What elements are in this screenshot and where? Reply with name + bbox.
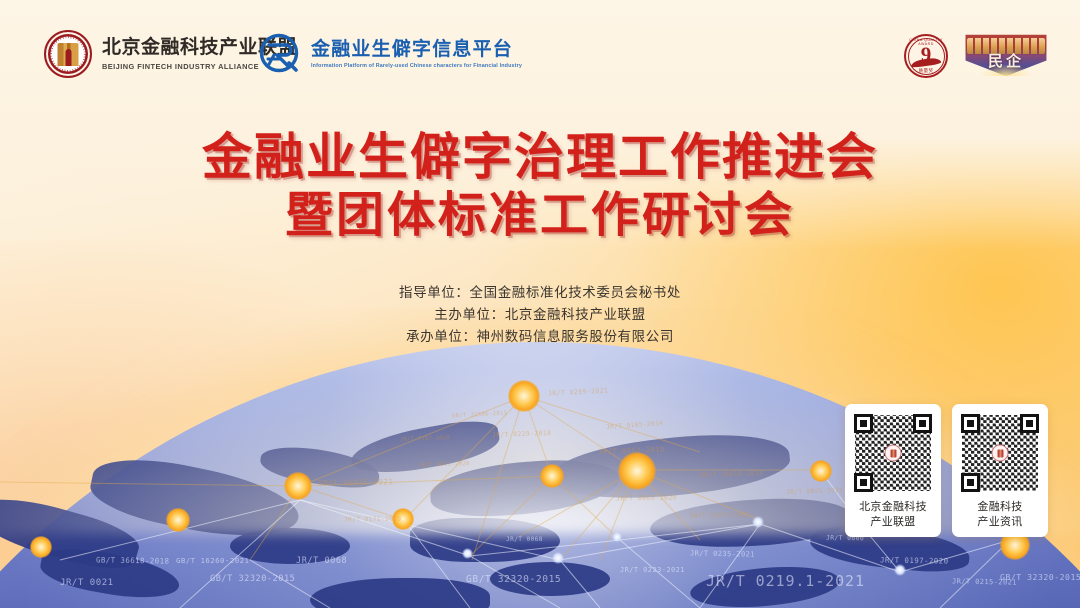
standard-code-label: JR/T 0068-2020: [616, 493, 677, 502]
qr-card-beijing-fintech-alliance[interactable]: 北京金融科技 产业联盟: [845, 404, 941, 537]
standard-code-label: GB/T 36618-2018: [700, 469, 764, 479]
qr-caption: 北京金融科技 产业联盟: [859, 499, 927, 529]
qr-code-image[interactable]: [960, 413, 1040, 493]
badge-china-quality-award: CHINA QUALITY AWARD 9 质量奖: [904, 34, 948, 78]
organizer-row: 承办单位：神州数码信息服务股份有限公司: [0, 326, 1080, 348]
standard-code-label: JR/T 0219.1-2021: [706, 572, 865, 590]
standard-code-label: JR/T 0223-2021: [620, 566, 685, 574]
standard-code-label: JR/T 0071-2020: [418, 461, 470, 469]
logo-cn-text: 金融业生僻字信息平台: [311, 39, 522, 60]
qr-caption-line-2: 产业联盟: [859, 514, 927, 529]
qr-center-logo-icon: [992, 445, 1009, 462]
standard-code-label: GB/T 32320-2015: [1000, 572, 1080, 582]
standard-code-label: JR/T 0021: [60, 578, 114, 588]
standard-code-label: JR/T 0025-2021: [786, 487, 844, 496]
standard-code-label: JR/T 0235-2021: [690, 549, 755, 558]
logo-en-text: Information Platform of Rarely-used Chin…: [311, 63, 522, 69]
organizer-row: 主办单位：北京金融科技产业联盟: [0, 304, 1080, 326]
standard-code-label: GB/T 32320-2015: [210, 574, 295, 584]
qr-caption-line-2: 产业资讯: [977, 514, 1022, 529]
standard-code-label: JR/T 0229-2018: [492, 429, 551, 439]
standard-code-label: GB/T 31506-2015: [452, 411, 508, 420]
red-circular-seal-icon: [44, 30, 92, 78]
organizer-label: 主办单位：: [434, 307, 505, 323]
qr-caption-line-1: 北京金融科技: [859, 499, 927, 514]
standard-code-label: GB/T 32320-2015: [466, 574, 561, 585]
standard-code-label: JR/T 0162-2018: [598, 445, 665, 456]
organizer-label: 承办单位：: [406, 329, 477, 345]
logo-rare-character-platform[interactable]: 金融业生僻字信息平台 Information Platform of Rarel…: [258, 32, 522, 76]
standard-code-label: GB/T 35273-2020: [690, 511, 750, 519]
standard-code-label: JR/T 0197-2020: [880, 555, 949, 565]
organizer-block: 指导单位：全国金融标准化技术委员会秘书处 主办单位：北京金融科技产业联盟 承办单…: [0, 282, 1080, 348]
title-line-1: 金融业生僻字治理工作推进会: [0, 128, 1080, 186]
organizer-value: 神州数码信息服务股份有限公司: [477, 329, 674, 345]
organizer-row: 指导单位：全国金融标准化技术委员会秘书处: [0, 282, 1080, 304]
blue-monogram-icon: [258, 32, 302, 76]
standard-code-label: GB/T 41025-2021: [318, 477, 394, 487]
qr-code-group: 北京金融科技 产业联盟 金融科技 产业资讯: [845, 404, 1048, 537]
standard-code-label: JR/T 0259-2021: [548, 386, 609, 397]
qr-code-image[interactable]: [853, 413, 933, 493]
standard-code-label: JR/T 0068: [506, 536, 543, 543]
standard-code-label: JR/T 0171-2020: [344, 515, 401, 523]
standard-code-label: JR/T 0068: [296, 556, 347, 566]
standard-code-label: GB/T 16260-2021: [176, 556, 249, 565]
badge-caption: 质量奖: [904, 68, 948, 74]
standard-code-label: JR/T 0197-2020: [400, 435, 450, 443]
qr-caption: 金融科技 产业资讯: [977, 499, 1022, 529]
badge-finance-standard: 民企: [962, 32, 1050, 78]
organizer-label: 指导单位：: [399, 285, 470, 301]
qr-card-fintech-news[interactable]: 金融科技 产业资讯: [952, 404, 1048, 537]
organizer-value: 全国金融标准化技术委员会秘书处: [470, 285, 682, 301]
header-logo-bar: 北京金融科技产业联盟 BEIJING FINTECH INDUSTRY ALLI…: [0, 0, 1080, 98]
standard-code-label: JR/T 0215-2021: [952, 577, 1017, 586]
qr-center-logo-icon: [885, 445, 902, 462]
qr-caption-line-1: 金融科技: [977, 499, 1022, 514]
title-line-2: 暨团体标准工作研讨会: [0, 186, 1080, 244]
standard-code-label: JR/T 0105-2014: [606, 420, 664, 431]
standard-code-label: GB/T 36618-2018: [96, 555, 170, 565]
organizer-value: 北京金融科技产业联盟: [505, 307, 646, 323]
poster-canvas: JR/T 0259-2021JR/T 0105-2014JR/T 0162-20…: [0, 0, 1080, 608]
poster-title: 金融业生僻字治理工作推进会 暨团体标准工作研讨会: [0, 128, 1080, 244]
